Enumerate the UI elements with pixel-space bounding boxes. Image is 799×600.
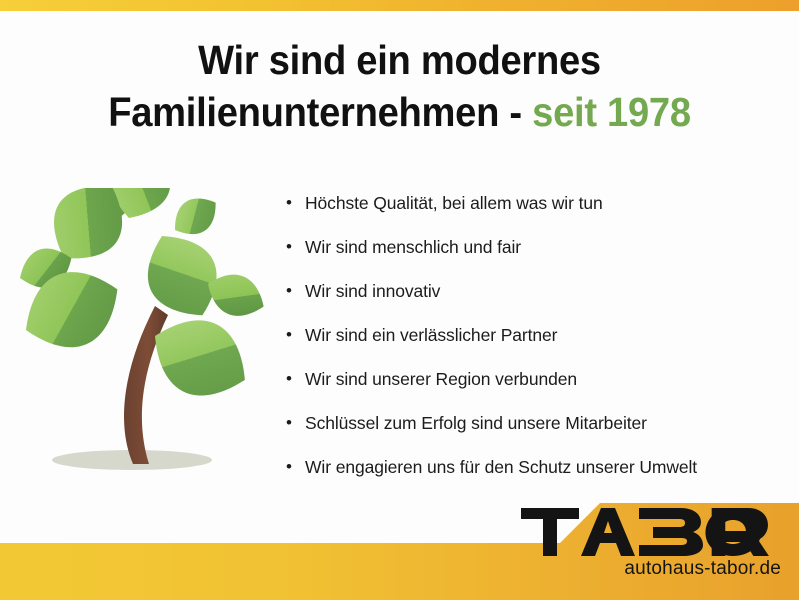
bullet-marker-icon: • (286, 456, 305, 478)
list-item: • Wir sind menschlich und fair (286, 236, 791, 258)
bullet-marker-icon: • (286, 324, 305, 346)
list-item: • Wir sind unserer Region verbunden (286, 368, 791, 390)
list-item-label: Schlüssel zum Erfolg sind unsere Mitarbe… (305, 412, 791, 434)
tree-illustration-svg (12, 188, 270, 480)
bullet-marker-icon: • (286, 280, 305, 302)
list-item-label: Wir sind unserer Region verbunden (305, 368, 791, 390)
slide-canvas: Wir sind ein modernes Familienunternehme… (0, 0, 799, 600)
list-item: • Wir sind innovativ (286, 280, 791, 302)
bullet-marker-icon: • (286, 192, 305, 214)
tree-trunk (124, 306, 168, 464)
list-item: • Schlüssel zum Erfolg sind unsere Mitar… (286, 412, 791, 434)
bullet-marker-icon: • (286, 412, 305, 434)
page-title: Wir sind ein modernes Familienunternehme… (28, 34, 771, 138)
brand-logo: autohaus-tabor.de (521, 508, 781, 580)
headline-year-highlight: seit 1978 (532, 89, 691, 135)
headline-line-2-black: Familienunternehmen - (108, 89, 532, 135)
bullet-marker-icon: • (286, 368, 305, 390)
headline-line-2: Familienunternehmen - seit 1978 (28, 86, 771, 138)
brand-url: autohaus-tabor.de (521, 558, 781, 580)
leaf (165, 188, 225, 244)
list-item: • Höchste Qualität, bei allem was wir tu… (286, 192, 791, 214)
list-item: • Wir engagieren uns für den Schutz unse… (286, 456, 791, 478)
top-accent-bar (0, 0, 799, 11)
list-item-label: Wir sind innovativ (305, 280, 791, 302)
list-item-label: Wir engagieren uns für den Schutz unsere… (305, 456, 791, 478)
bullet-marker-icon: • (286, 236, 305, 258)
leaf (131, 220, 233, 331)
list-item: • Wir sind ein verlässlicher Partner (286, 324, 791, 346)
list-item-label: Wir sind ein verlässlicher Partner (305, 324, 791, 346)
tabor-wordmark (521, 508, 781, 556)
headline-line-1: Wir sind ein modernes (28, 34, 771, 86)
bullet-list: • Höchste Qualität, bei allem was wir tu… (286, 192, 791, 500)
list-item-label: Wir sind menschlich und fair (305, 236, 791, 258)
list-item-label: Höchste Qualität, bei allem was wir tun (305, 192, 791, 214)
tree-illustration (12, 188, 270, 480)
